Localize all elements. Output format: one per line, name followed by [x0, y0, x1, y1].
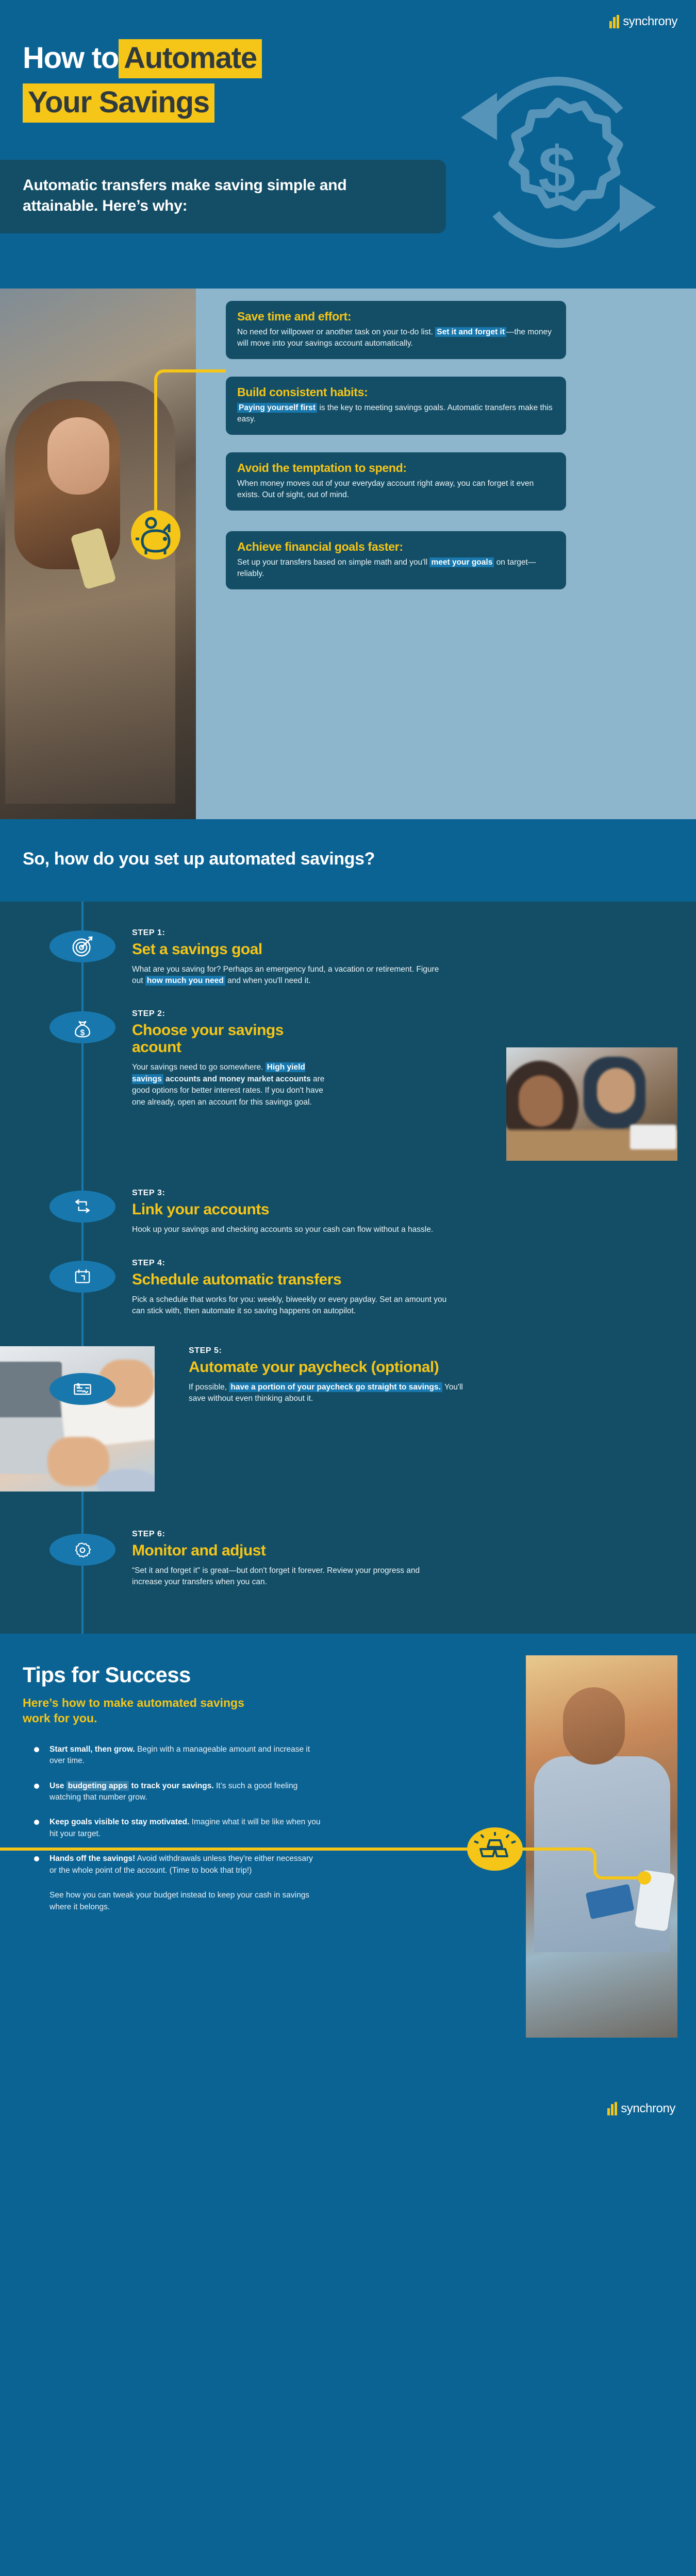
svg-text:$: $ [76, 1382, 80, 1389]
step-title: Automate your paycheck (optional) [189, 1359, 477, 1376]
step-label: STEP 6: [132, 1530, 452, 1539]
benefit-heading: Build consistent habits: [237, 385, 555, 399]
synchrony-bars-logo-icon [609, 15, 619, 28]
brand-name: synchrony [623, 14, 677, 29]
dollar-gear-cycle-icon: $ [450, 62, 666, 263]
step-4: STEP 4: Schedule automatic transfers Pic… [0, 1259, 696, 1317]
check-dollar-icon: $ [49, 1373, 115, 1405]
benefit-heading: Avoid the temptation to spend: [237, 461, 555, 475]
brand-logo-bottom: synchrony [607, 2102, 675, 2116]
step-3: STEP 3: Link your accounts Hook up your … [0, 1189, 696, 1235]
title-highlight-your-savings: Your Savings [23, 83, 214, 123]
step-1: STEP 1: Set a savings goal What are you … [0, 928, 696, 987]
synchrony-bars-logo-icon [607, 2102, 617, 2115]
title-highlight-automate: Automate [119, 39, 262, 78]
calendar-icon [49, 1261, 115, 1293]
step-title: Choose your savings acount [132, 1022, 328, 1056]
step-text: Your savings need to go somewhere. High … [132, 1062, 328, 1108]
step-title: Set a savings goal [132, 941, 452, 958]
woman-with-phone-photo [0, 289, 196, 819]
transfer-arrows-icon [49, 1191, 115, 1223]
step-text: Pick a schedule that works for you: week… [132, 1294, 452, 1317]
smiling-woman-with-phone-and-card-photo [526, 1655, 677, 2038]
step-text: What are you saving for? Perhaps an emer… [132, 964, 452, 987]
hero-section: synchrony How to Automate Your Savings $… [0, 0, 696, 289]
step-2: $ STEP 2: Choose your savings acount You… [0, 1009, 696, 1164]
two-people-at-desk-photo [506, 1047, 677, 1161]
tips-closing: See how you can tweak your budget instea… [49, 1890, 328, 1913]
brand-logo-top: synchrony [609, 14, 677, 29]
step-title: Monitor and adjust [132, 1542, 452, 1559]
target-bullseye-icon [49, 930, 115, 962]
benefit-card: Avoid the temptation to spend: When mone… [226, 452, 566, 511]
gear-settings-icon [49, 1534, 115, 1566]
gold-bars-icon [467, 1827, 523, 1871]
benefit-body: Paying yourself first is the key to meet… [237, 402, 555, 425]
step-label: STEP 3: [132, 1189, 452, 1198]
tips-section: Tips for Success Here’s how to make auto… [0, 1634, 696, 2087]
title-plain-word: How to [23, 40, 119, 77]
hero-subtitle: Automatic transfers make saving simple a… [23, 175, 422, 216]
benefits-section: Save time and effort: No need for willpo… [0, 289, 696, 819]
step-label: STEP 5: [189, 1346, 477, 1355]
infographic-page: synchrony How to Automate Your Savings $… [0, 0, 696, 2134]
step-text: “Set it and forget it" is great—but don'… [132, 1565, 452, 1588]
benefit-card: Build consistent habits: Paying yourself… [226, 377, 566, 435]
footer: synchrony [0, 2087, 696, 2134]
step-text: If possible, have a portion of your payc… [189, 1382, 477, 1405]
benefit-heading: Save time and effort: [237, 310, 555, 324]
benefit-body: Set up your transfers based on simple ma… [237, 557, 555, 580]
tips-lead: Here’s how to make automated savings wor… [23, 1696, 270, 1726]
step-text: Hook up your savings and checking accoun… [132, 1224, 452, 1235]
svg-text:$: $ [538, 132, 575, 208]
setup-heading-section: So, how do you set up automated savings? [0, 819, 696, 902]
step-title: Schedule automatic transfers [132, 1271, 452, 1288]
step-5: $ STEP 5: Automate your paycheck (option… [0, 1346, 696, 1501]
list-item: Use budgeting apps to track your savings… [32, 1781, 321, 1804]
benefit-cards: Save time and effort: No need for willpo… [226, 289, 677, 597]
setup-heading: So, how do you set up automated savings? [23, 848, 673, 871]
step-label: STEP 2: [132, 1009, 328, 1019]
step-title: Link your accounts [132, 1201, 452, 1218]
step-label: STEP 1: [132, 928, 452, 938]
svg-text:$: $ [80, 1029, 85, 1038]
hero-subtitle-panel: Automatic transfers make saving simple a… [0, 160, 446, 233]
tips-list: Start small, then grow. Begin with a man… [32, 1744, 321, 1877]
list-item: Start small, then grow. Begin with a man… [32, 1744, 321, 1767]
brand-name: synchrony [621, 2102, 675, 2116]
steps-section: STEP 1: Set a savings goal What are you … [0, 902, 696, 1634]
step-6: STEP 6: Monitor and adjust “Set it and f… [0, 1530, 696, 1588]
page-title: How to Automate Your Savings [23, 39, 262, 128]
hands-with-paycheck-laptop-photo [0, 1346, 155, 1492]
money-bag-icon: $ [49, 1011, 115, 1043]
list-item: Hands off the savings! Avoid withdrawals… [32, 1853, 321, 1876]
benefit-card: Achieve financial goals faster: Set up y… [226, 531, 566, 589]
benefit-body: No need for willpower or another task on… [237, 327, 555, 349]
step-label: STEP 4: [132, 1259, 452, 1268]
benefit-body: When money moves out of your everyday ac… [237, 478, 555, 501]
benefit-card: Save time and effort: No need for willpo… [226, 301, 566, 359]
benefit-heading: Achieve financial goals faster: [237, 540, 555, 554]
list-item: Keep goals visible to stay motivated. Im… [32, 1817, 321, 1840]
